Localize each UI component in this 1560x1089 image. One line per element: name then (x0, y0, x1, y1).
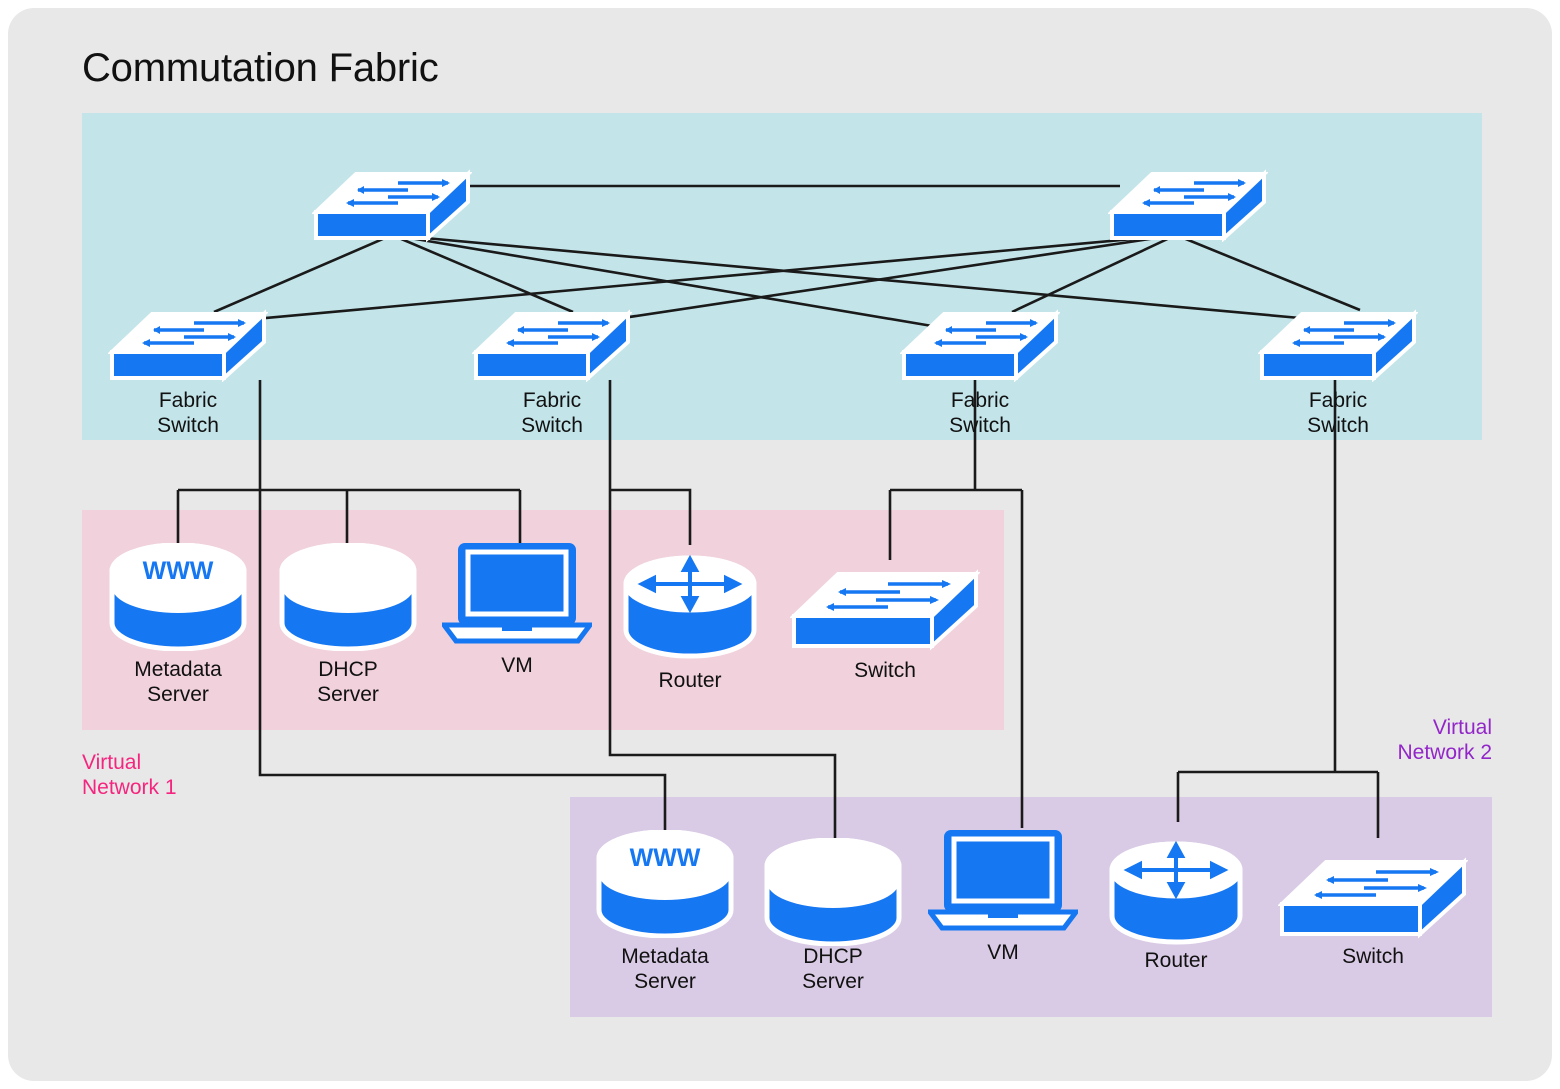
vn2-switch-label: Switch (1342, 944, 1404, 969)
vn1-dhcp-server[interactable]: DHCP Server (278, 543, 418, 651)
vn1-vm-label: VM (501, 653, 533, 678)
vn2-vm[interactable]: VM (928, 826, 1078, 932)
fabric-switch-2[interactable]: Fabric Switch (472, 300, 632, 382)
switch-icon (1278, 848, 1468, 940)
vn2-dhcp-server-label: DHCP Server (798, 944, 868, 994)
page-title: Commutation Fabric (82, 46, 439, 91)
vn1-router[interactable]: Router (622, 554, 758, 660)
router-icon (1108, 840, 1244, 946)
vn2-metadata-server-label: Metadata Server (621, 944, 709, 994)
vn2-metadata-server[interactable]: WWW Metadata Server (595, 830, 735, 938)
fabric-switch-3-label: Fabric Switch (940, 388, 1020, 438)
laptop-icon (442, 539, 592, 645)
fabric-switch-1[interactable]: Fabric Switch (108, 300, 268, 382)
vn2-router-label: Router (1144, 948, 1207, 973)
www-badge: WWW (143, 557, 214, 585)
vn1-router-label: Router (658, 668, 721, 693)
router-icon (622, 554, 758, 660)
fabric-switch-1-label: Fabric Switch (148, 388, 228, 438)
spine-switch-2[interactable] (1108, 160, 1268, 242)
vn2-router[interactable]: Router (1108, 840, 1244, 946)
database-icon (763, 838, 903, 946)
zone-commutation-fabric (82, 113, 1482, 440)
database-icon (278, 543, 418, 651)
database-icon: WWW (595, 830, 735, 938)
switch-icon (312, 160, 472, 242)
fabric-switch-2-label: Fabric Switch (512, 388, 592, 438)
vn1-switch-label: Switch (854, 658, 916, 683)
virtual-network-2-caption: Virtual Network 2 (1292, 715, 1492, 765)
switch-icon (790, 560, 980, 652)
spine-switch-1[interactable] (312, 160, 472, 242)
vn2-switch[interactable]: Switch (1278, 848, 1468, 940)
fabric-switch-4-label: Fabric Switch (1298, 388, 1378, 438)
switch-icon (1258, 300, 1418, 382)
switch-icon (900, 300, 1060, 382)
vn2-dhcp-server[interactable]: DHCP Server (763, 838, 903, 946)
fabric-switch-4[interactable]: Fabric Switch (1258, 300, 1418, 382)
laptop-icon (928, 826, 1078, 932)
vn1-vm[interactable]: VM (442, 539, 592, 645)
vn1-switch[interactable]: Switch (790, 560, 980, 652)
vn1-dhcp-server-label: DHCP Server (313, 657, 383, 707)
vn2-vm-label: VM (987, 940, 1019, 965)
database-icon: WWW (108, 543, 248, 651)
switch-icon (472, 300, 632, 382)
virtual-network-1-caption: Virtual Network 1 (82, 750, 177, 800)
www-badge: WWW (630, 844, 701, 872)
vn1-metadata-server-label: Metadata Server (134, 657, 222, 707)
diagram-canvas: Commutation Fabric (0, 0, 1560, 1089)
fabric-switch-3[interactable]: Fabric Switch (900, 300, 1060, 382)
switch-icon (1108, 160, 1268, 242)
vn1-metadata-server[interactable]: WWW Metadata Server (108, 543, 248, 651)
switch-icon (108, 300, 268, 382)
